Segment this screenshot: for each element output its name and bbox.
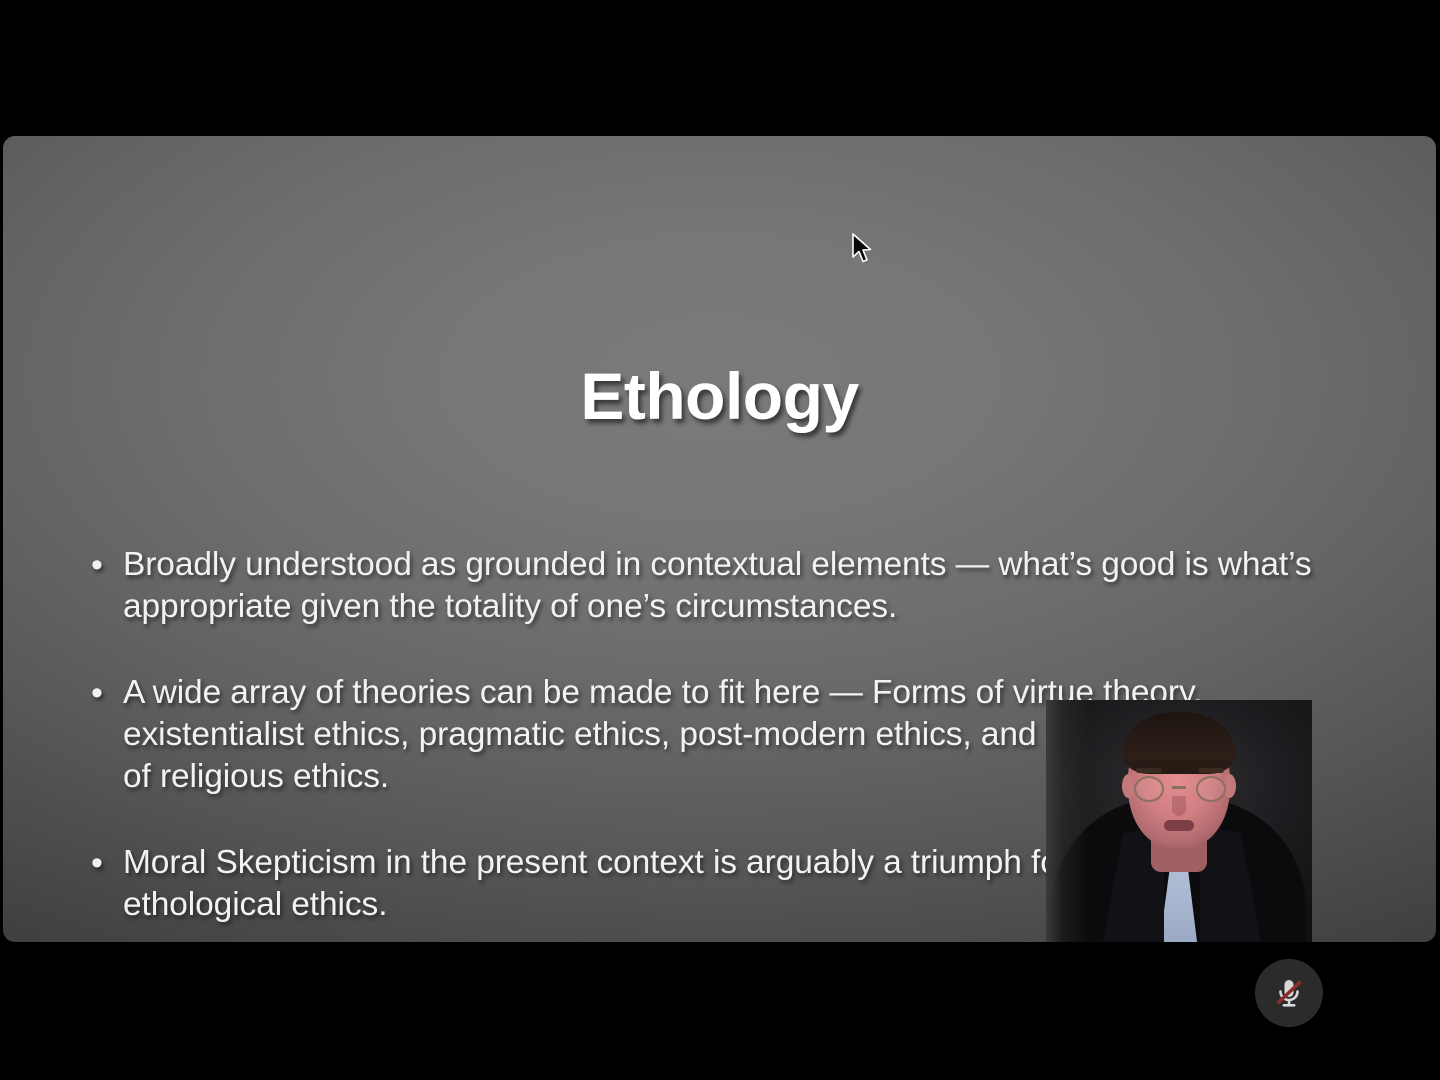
mute-button[interactable]	[1255, 959, 1323, 1027]
bullet-text: Broadly understood as grounded in contex…	[123, 544, 1327, 628]
bullet-item: • Broadly understood as grounded in cont…	[87, 544, 1327, 628]
presenter-mouth	[1164, 820, 1194, 831]
presenter-eyeglass-right	[1196, 776, 1226, 802]
presenter-eyebrow-left	[1136, 768, 1162, 773]
slide-title: Ethology	[3, 358, 1436, 434]
presenter-eyeglass-left	[1134, 776, 1164, 802]
presenter-ear-left	[1122, 774, 1135, 798]
letterbox-bottom	[0, 942, 1440, 1080]
microphone-muted-icon	[1269, 973, 1309, 1013]
presenter-eyebrow-right	[1198, 768, 1224, 773]
presenter-nose	[1172, 796, 1186, 816]
bullet-marker-icon: •	[87, 544, 123, 586]
presenter-video-thumbnail[interactable]	[1046, 700, 1312, 942]
bullet-marker-icon: •	[87, 842, 123, 884]
letterbox-top	[0, 0, 1440, 136]
screen-share-view: Ethology • Broadly understood as grounde…	[0, 0, 1440, 1080]
bullet-marker-icon: •	[87, 672, 123, 714]
presenter-eyeglass-bridge	[1172, 786, 1186, 789]
